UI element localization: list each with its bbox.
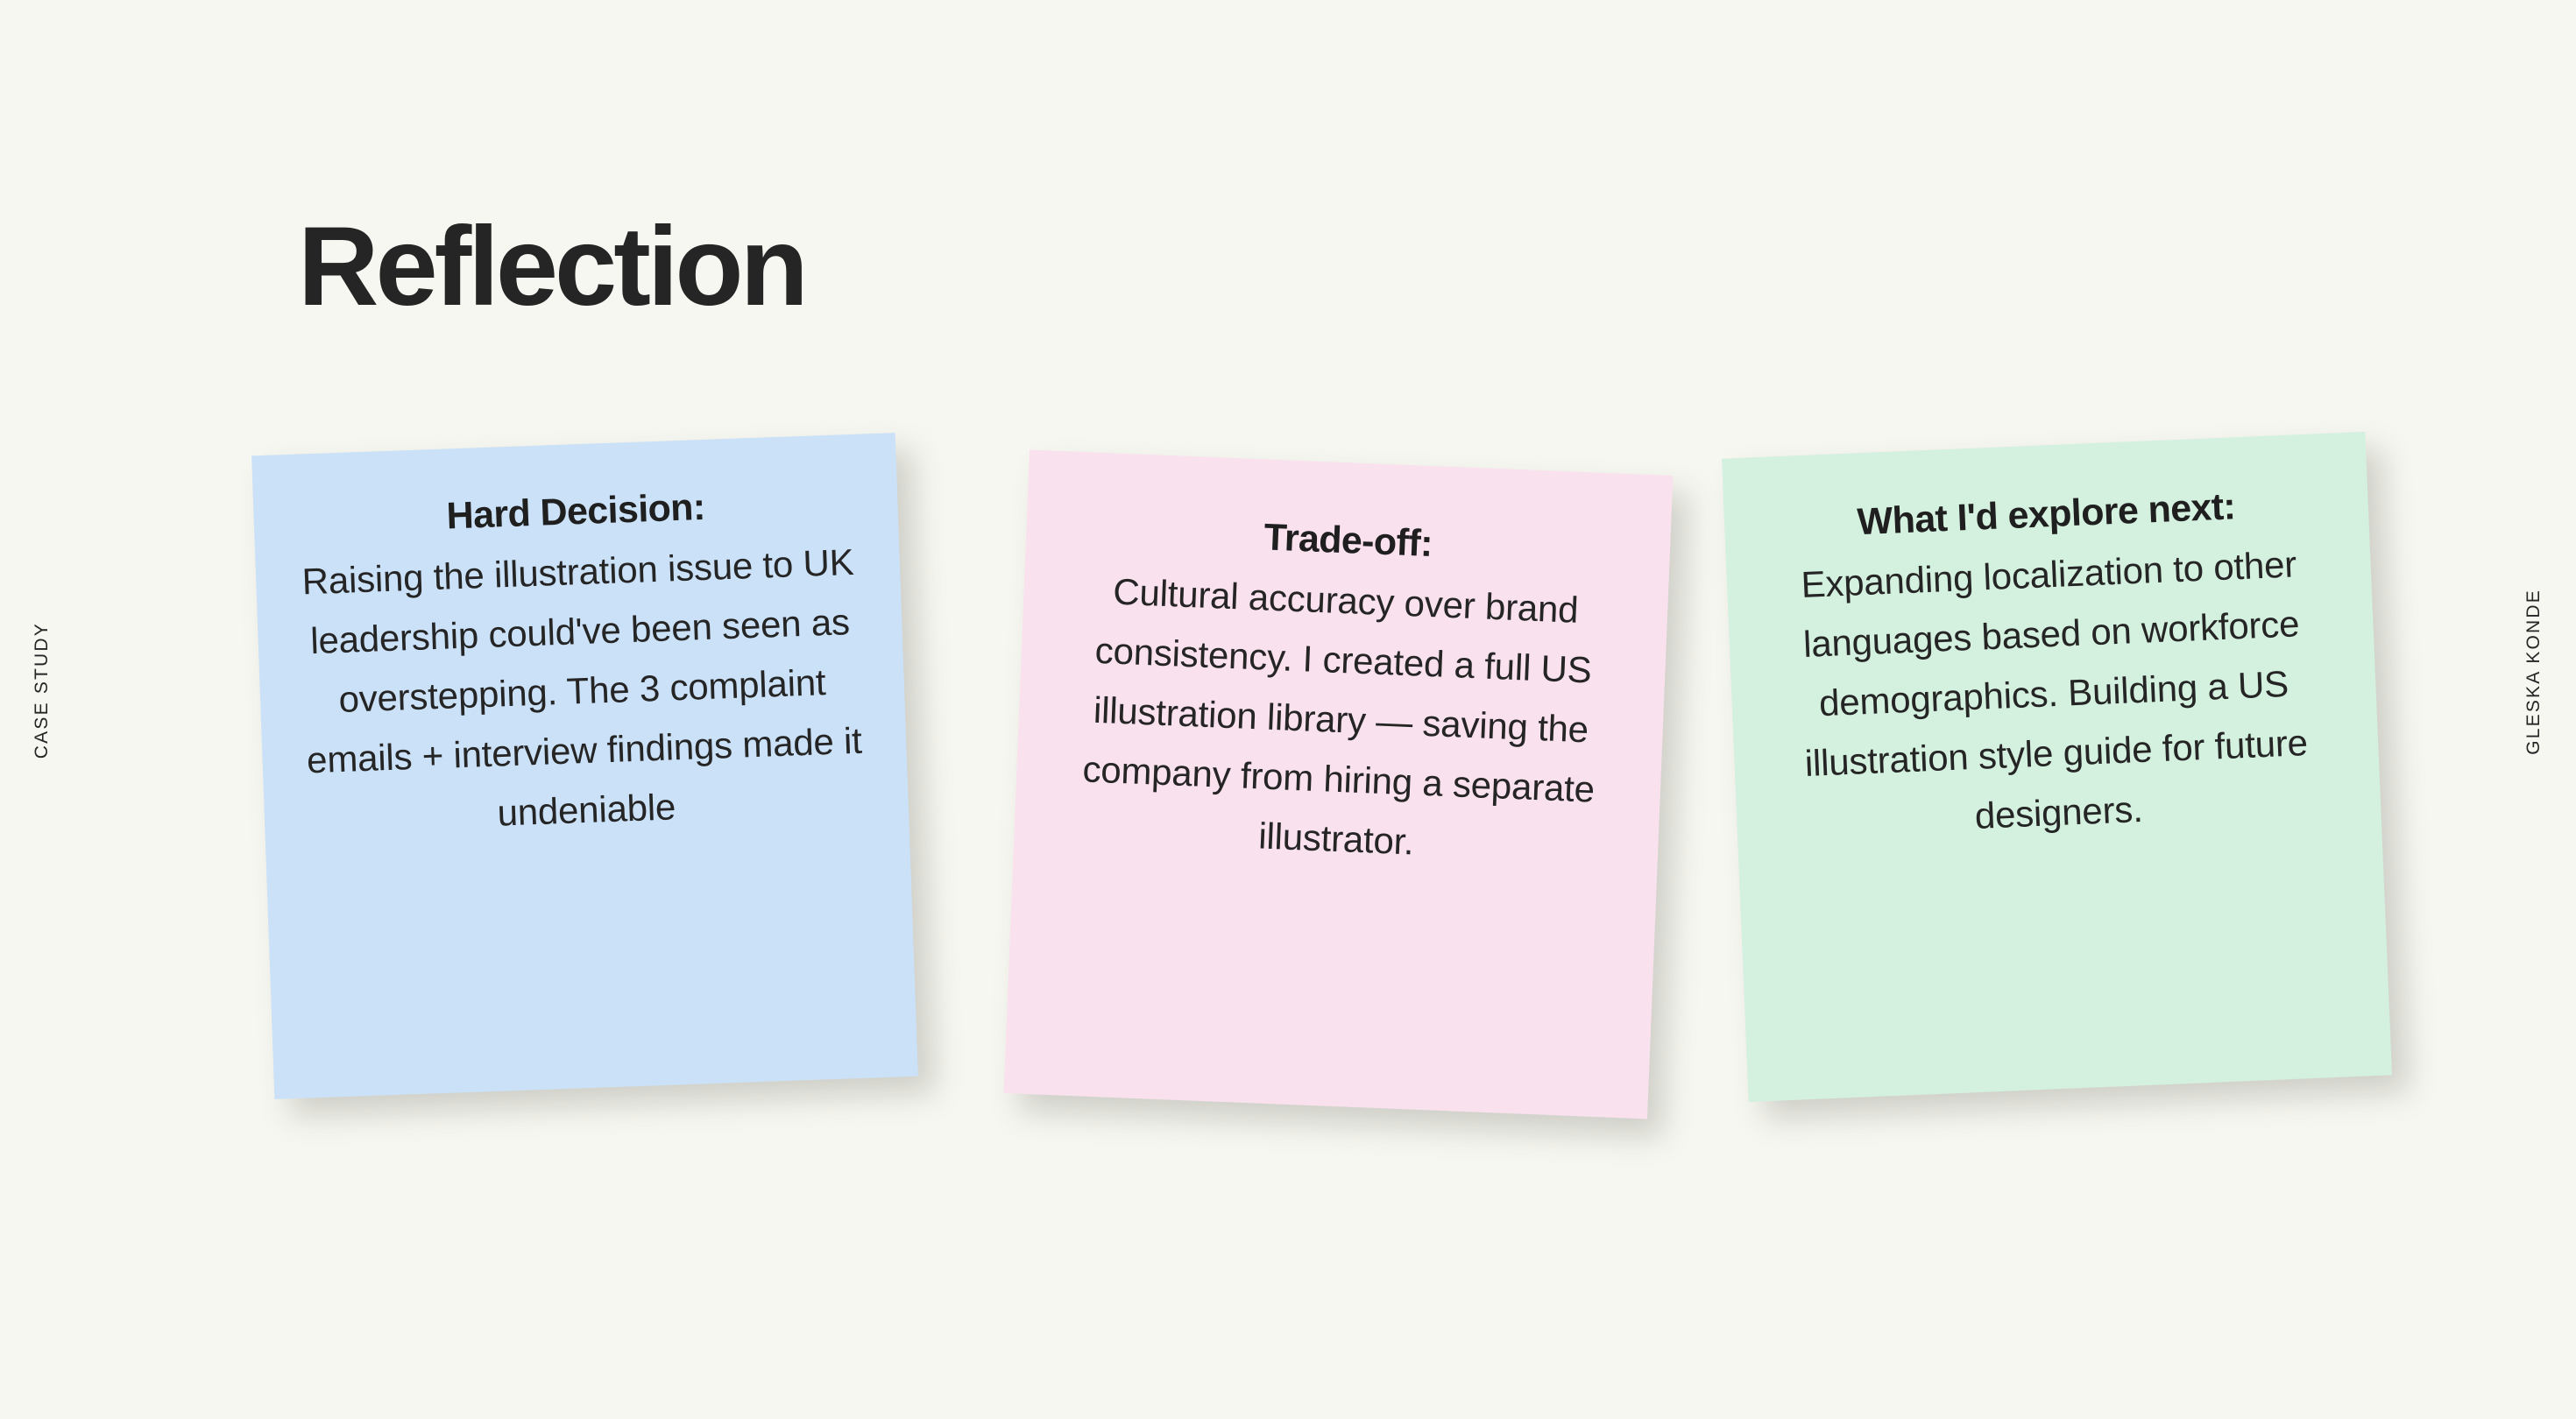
sticky-note-card: Hard Decision: Raising the illustration … bbox=[251, 433, 918, 1099]
card-body: Cultural accuracy over brand consistency… bbox=[1048, 560, 1633, 880]
card-body: Expanding localization to other language… bbox=[1761, 533, 2347, 854]
card-heading: What I'd explore next: bbox=[1857, 484, 2237, 546]
sticky-note-card: Trade-off: Cultural accuracy over brand … bbox=[1004, 450, 1674, 1119]
sticky-note-card: What I'd explore next: Expanding localiz… bbox=[1722, 432, 2392, 1102]
sticky-note-group: Hard Decision: Raising the illustration … bbox=[0, 0, 2576, 1419]
card-heading: Trade-off: bbox=[1263, 515, 1433, 567]
slide-canvas: Reflection CASE STUDY GLESKA KONDE Hard … bbox=[0, 0, 2576, 1419]
card-heading: Hard Decision: bbox=[446, 485, 706, 540]
card-body: Raising the illustration issue to UK lea… bbox=[290, 532, 874, 850]
